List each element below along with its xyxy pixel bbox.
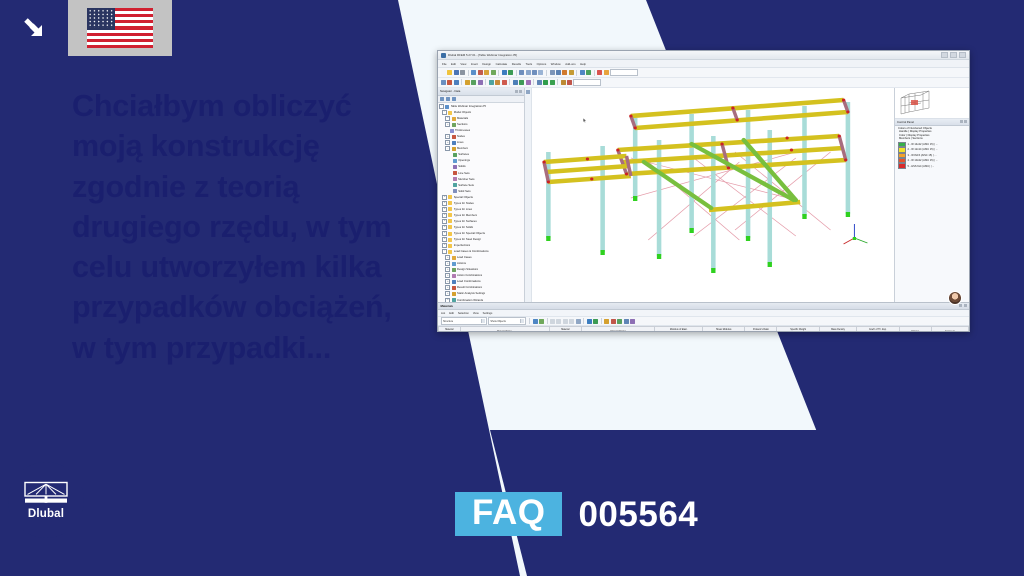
header-line: Material: [550, 329, 581, 332]
solid-icon[interactable]: [478, 80, 483, 85]
tree-item-icon: [453, 177, 457, 181]
tree-item-icon: [453, 171, 457, 175]
toolbar-separator: [498, 70, 499, 76]
tree-item-label: Static Analysis Settings: [457, 292, 485, 295]
logo-wordmark: Dlubal: [28, 508, 64, 520]
filter-icon[interactable]: [533, 319, 538, 324]
table-column-header[interactable]: Shear ModulusG [ksi]: [702, 327, 744, 333]
tree-item-label: Lines: [457, 141, 464, 144]
tree-item-label: Line Sets: [458, 172, 469, 175]
maximize-button[interactable]: [950, 52, 957, 58]
table-column-header[interactable]: Modulus of Elast.E [ksi]: [655, 327, 703, 333]
window-controls[interactable]: [941, 52, 966, 58]
surface-icon[interactable]: [471, 80, 476, 85]
legend-label: 5 - HSS 6x4 (AISC) | ...: [908, 165, 935, 168]
table-column-header[interactable]: Coeff. of Th. Exp.α [1/°F]: [857, 327, 899, 333]
tree-item-label: Surface Sets: [458, 184, 474, 187]
header-line: Mass Density: [820, 329, 856, 332]
navigator-title: Navigator - Data: [440, 89, 460, 93]
collapse-icon[interactable]: -: [442, 110, 447, 115]
menu-item-edit[interactable]: Edit: [451, 62, 456, 66]
close-icon[interactable]: [519, 90, 522, 93]
structure-select-value: Structure: [443, 320, 453, 323]
tree-item-icon: [453, 183, 457, 187]
settings-icon[interactable]: [630, 319, 635, 324]
render-solid-icon[interactable]: [519, 70, 524, 75]
tree-item-label: Imperfections: [454, 244, 471, 247]
tree-item-icon: [452, 280, 456, 284]
table-menu-edit[interactable]: Edit: [449, 312, 454, 315]
toolbar-separator: [594, 70, 595, 76]
navigator-tabs[interactable]: [438, 96, 524, 103]
header-line: Comment: [932, 331, 968, 332]
legend-label: 1 - W 14x22 (AISC 15) | ...: [908, 143, 938, 146]
table-menu-list[interactable]: List: [441, 312, 445, 315]
menu-item-results[interactable]: Results: [512, 62, 521, 66]
redo-icon[interactable]: [593, 319, 598, 324]
member-icon[interactable]: [465, 80, 470, 85]
tree-item-label: Table Webinar Integration.rf5: [451, 105, 486, 108]
structure-select[interactable]: Structure: [441, 317, 487, 324]
undo-icon[interactable]: [587, 319, 592, 324]
table-column-header[interactable]: Material Name: [460, 327, 549, 333]
tree-item-icon: [452, 286, 456, 290]
export-icon[interactable]: [576, 319, 581, 324]
table-panel-header: Materials: [438, 303, 969, 311]
column-view-icon[interactable]: [556, 319, 561, 324]
menu-item-help[interactable]: Help: [580, 62, 586, 66]
results-icon[interactable]: [604, 70, 609, 75]
delete-row-icon[interactable]: [611, 319, 616, 324]
expand-icon[interactable]: +: [445, 267, 450, 272]
tree-item-icon: [453, 165, 457, 169]
model-thumbnail: [895, 88, 969, 119]
tree-item-icon: [445, 105, 449, 109]
window-titlebar: Dlubal RFEM 5.27.01 - [Table Webinar Int…: [438, 51, 969, 60]
grid-icon[interactable]: [550, 70, 555, 75]
tree-item-label: Types for Solids: [454, 226, 474, 229]
tree-item-icon: [452, 135, 456, 139]
material-icon[interactable]: [567, 80, 572, 85]
edit-row-icon[interactable]: [604, 319, 609, 324]
new-file-icon[interactable]: [441, 70, 446, 75]
tree-item-icon: [452, 117, 456, 121]
legend-label: 3 - W 8x15 (AISC 15) | ...: [908, 154, 937, 157]
tree-spacer: [449, 172, 452, 175]
tree-spacer: [445, 129, 448, 132]
dlubal-logo: Dlubal: [8, 462, 84, 538]
header-line: Shear Modulus: [703, 329, 744, 332]
close-button[interactable]: [959, 52, 966, 58]
table-menu-view[interactable]: View: [473, 312, 479, 315]
table-column-header[interactable]: Specific Weightγ [kip/ft³]: [777, 327, 819, 333]
tree-item-icon: [452, 147, 456, 151]
chevron-down-icon[interactable]: [481, 319, 486, 323]
mesh-icon[interactable]: [537, 80, 542, 85]
nodal-load-icon[interactable]: [513, 80, 518, 85]
expand-icon[interactable]: +: [442, 237, 447, 242]
print-table-icon[interactable]: [624, 319, 629, 324]
tree-spacer: [449, 178, 452, 181]
dimension-icon[interactable]: [569, 70, 574, 75]
tree-spacer: [449, 165, 452, 168]
header-line: Material: [439, 329, 460, 332]
legend-row[interactable]: 5 - HSS 6x4 (AISC) | ...: [898, 163, 969, 168]
language-bar: [0, 0, 172, 56]
tree-item-label: Sections: [457, 123, 468, 126]
close-icon[interactable]: [964, 304, 967, 307]
check-icon[interactable]: [550, 80, 555, 85]
tree-item-icon: [452, 268, 456, 272]
expand-icon[interactable]: +: [442, 207, 447, 212]
tree-item-icon: [452, 262, 456, 266]
toolbar-separator: [485, 79, 486, 85]
chevron-down-icon[interactable]: [520, 319, 525, 323]
redo-icon[interactable]: [508, 70, 513, 75]
render-wire-icon[interactable]: [526, 70, 531, 75]
tree-item-label: Solid Sets: [458, 190, 470, 193]
tree-item-label: Openings: [458, 159, 470, 162]
header-line: Material Model: [582, 331, 655, 332]
view-tool-icon[interactable]: [526, 90, 530, 94]
headline-text: Chciałbym obliczyć moją konstrukcję zgod…: [72, 86, 422, 368]
cut-icon[interactable]: [478, 70, 483, 75]
tree-item-icon: [452, 298, 456, 301]
menu-item-design[interactable]: Design: [482, 62, 491, 66]
model-viewport[interactable]: [525, 88, 894, 302]
table-toolbar[interactable]: Structure Show Objects: [438, 317, 969, 326]
tree-item-icon: [453, 189, 457, 193]
expand-icon[interactable]: +: [445, 279, 450, 284]
control-panel-header: Control Panel: [895, 119, 969, 126]
data-tab-icon[interactable]: [440, 97, 444, 101]
table-panel-title: Materials: [441, 304, 454, 308]
toolbar-separator: [557, 79, 558, 85]
tree-item-icon: [448, 207, 452, 211]
expand-icon[interactable]: +: [445, 285, 450, 290]
materials-table[interactable]: MaterialNo.Material NameMaterialTypeMate…: [438, 326, 969, 332]
pin-icon[interactable]: [515, 90, 518, 93]
navigator-panel-buttons[interactable]: [515, 90, 523, 93]
expand-icon[interactable]: +: [445, 140, 450, 145]
node-icon[interactable]: [447, 80, 452, 85]
table-panel-buttons[interactable]: [959, 304, 967, 307]
toolbar-separator: [516, 70, 517, 76]
tree-item-label: Members: [457, 147, 468, 150]
tree-item-icon: [452, 123, 456, 127]
presenter-avatar: [948, 291, 962, 305]
tree-item-label: Result Combinations: [457, 286, 482, 289]
header-line: Coeff. of Th. Exp.: [857, 329, 898, 332]
show-objects-select[interactable]: Show Objects: [488, 317, 526, 324]
tree-item-label: Load Cases: [457, 256, 472, 259]
expand-icon[interactable]: +: [442, 201, 447, 206]
merge-cells-icon[interactable]: [569, 319, 574, 324]
us-flag-icon: [87, 8, 153, 48]
expand-icon[interactable]: +: [442, 225, 447, 230]
render-shaded-icon[interactable]: [532, 70, 537, 75]
tree-item-label: Load Combinations: [457, 280, 481, 283]
expand-icon[interactable]: +: [445, 122, 450, 127]
table-header-row: MaterialNo.Material NameMaterialTypeMate…: [439, 327, 969, 333]
tree-item-label: Actions: [457, 262, 466, 265]
navigator-tree[interactable]: -Table Webinar Integration.rf5-Model Obj…: [438, 103, 524, 302]
toolbar-separator: [468, 70, 469, 76]
render-transparent-icon[interactable]: [538, 70, 543, 75]
tree-item-label: Types for Surfaces: [454, 220, 477, 223]
tree-item-label: Model Objects: [454, 111, 472, 114]
tree-item-label: Combination Wizards: [457, 299, 483, 302]
collapse-icon[interactable]: -: [445, 146, 450, 151]
navigator-item[interactable]: +Combination Wizards: [439, 297, 524, 302]
arrow-down-right-icon: [19, 13, 49, 43]
tree-item-label: Materials: [457, 117, 468, 120]
application-body: Navigator - Data -Table Webinar Integrat…: [438, 88, 969, 302]
navigator-panel[interactable]: Navigator - Data -Table Webinar Integrat…: [438, 88, 525, 302]
toolbar-combo[interactable]: [610, 69, 638, 76]
tree-spacer: [449, 159, 452, 162]
tree-item-label: Action Combinations: [457, 274, 482, 277]
toolbar-separator: [509, 79, 510, 85]
menu-item-file[interactable]: File: [442, 62, 447, 66]
faq-badge: FAQ: [455, 492, 562, 536]
tree-item-icon: [448, 232, 452, 236]
tree-item-label: Types for Lines: [454, 208, 473, 211]
menu-item-options[interactable]: Options: [537, 62, 547, 66]
surface-load-icon[interactable]: [526, 80, 531, 85]
header-line: Options: [900, 331, 931, 332]
materials-table-wrapper[interactable]: MaterialNo.Material NameMaterialTypeMate…: [438, 326, 969, 332]
expand-icon[interactable]: +: [445, 298, 450, 302]
section-icon[interactable]: [561, 80, 566, 85]
tree-item-label: Surfaces: [458, 153, 469, 156]
header-line: Specific Weight: [777, 329, 818, 332]
pin-icon[interactable]: [959, 304, 962, 307]
expand-icon[interactable]: +: [442, 243, 447, 248]
menu-item-add-ons[interactable]: Add-ons: [565, 62, 575, 66]
arrow-down-right-button[interactable]: [0, 0, 68, 56]
expand-icon[interactable]: +: [445, 261, 450, 266]
tree-item-label: Types for Steel Design: [454, 238, 482, 241]
table-menu-selection[interactable]: Selection: [458, 312, 469, 315]
tree-item-label: Design Situations: [457, 268, 478, 271]
control-panel-title: Control Panel: [897, 120, 914, 124]
faq-row: FAQ 005564: [455, 492, 698, 536]
tree-item-icon: [448, 244, 452, 248]
copy-icon[interactable]: [484, 70, 489, 75]
hinge-icon[interactable]: [495, 80, 500, 85]
tree-item-icon: [448, 225, 452, 229]
slide-canvas: Chciałbym obliczyć moją konstrukcję zgod…: [0, 0, 1024, 576]
tree-item-label: Special Objects: [454, 196, 473, 199]
menu-item-window[interactable]: Window: [551, 62, 561, 66]
tree-item-icon: [448, 213, 452, 217]
select-icon[interactable]: [441, 80, 446, 85]
tree-item-icon: [448, 238, 452, 242]
tree-item-icon: [452, 141, 456, 145]
zoom-all-icon[interactable]: [586, 70, 591, 75]
line-icon[interactable]: [454, 80, 459, 85]
print-preview-icon[interactable]: [471, 70, 476, 75]
toolbar-row-1[interactable]: [438, 68, 969, 78]
close-icon[interactable]: [964, 120, 967, 123]
tree-item-label: Types for Members: [454, 214, 478, 217]
calculate-icon[interactable]: [597, 70, 602, 75]
row-view-icon[interactable]: [563, 319, 568, 324]
load-icon[interactable]: [502, 80, 507, 85]
pin-icon[interactable]: [960, 120, 963, 123]
expand-icon[interactable]: +: [442, 213, 447, 218]
control-panel[interactable]: Control Panel Colors of Numbered Objects…: [894, 88, 969, 302]
tree-spacer: [449, 153, 452, 156]
legend-color-swatch: [898, 163, 906, 168]
expand-icon[interactable]: +: [442, 219, 447, 224]
menu-item-calculate[interactable]: Calculate: [496, 62, 508, 66]
line-load-icon[interactable]: [519, 80, 524, 85]
table-menu-settings[interactable]: Settings: [483, 312, 493, 315]
expand-icon[interactable]: +: [442, 231, 447, 236]
menu-item-view[interactable]: View: [460, 62, 466, 66]
tree-item-icon: [453, 159, 457, 163]
undo-icon[interactable]: [502, 70, 507, 75]
views-tab-icon[interactable]: [452, 97, 456, 101]
tree-spacer: [449, 190, 452, 193]
expand-icon[interactable]: +: [445, 116, 450, 121]
tree-item-label: Thicknesses: [455, 129, 470, 132]
header-line: Material Name: [461, 331, 549, 332]
header-line: Modulus of Elast.: [655, 329, 702, 332]
tree-item-label: Load Cases & Combinations: [454, 250, 489, 253]
deformation-icon[interactable]: [543, 80, 548, 85]
zoom-window-icon[interactable]: [580, 70, 585, 75]
control-panel-section-label: Members | Sections: [895, 137, 969, 141]
minimize-button[interactable]: [941, 52, 948, 58]
open-file-icon[interactable]: [447, 70, 452, 75]
display-tab-icon[interactable]: [446, 97, 450, 101]
navigator-header: Navigator - Data: [438, 88, 524, 96]
tree-item-label: Member Sets: [458, 178, 474, 181]
toolbar-row-2[interactable]: [438, 78, 969, 88]
tree-item-icon: [452, 274, 456, 278]
support-icon[interactable]: [489, 80, 494, 85]
rfem-application-window[interactable]: Dlubal RFEM 5.27.01 - [Table Webinar Int…: [437, 50, 970, 332]
grid-view-icon[interactable]: [550, 319, 555, 324]
save-icon[interactable]: [454, 70, 459, 75]
collapse-icon[interactable]: -: [439, 104, 444, 109]
sort-icon[interactable]: [539, 319, 544, 324]
table-column-header[interactable]: Comment: [931, 327, 968, 333]
table-column-header[interactable]: Material Model: [581, 327, 655, 333]
insert-row-icon[interactable]: [617, 319, 622, 324]
toolbar-separator: [461, 79, 462, 85]
table-menu-bar[interactable]: ListEditSelectionViewSettings: [438, 310, 969, 317]
menu-item-tools[interactable]: Tools: [526, 62, 533, 66]
legend-label: 2 - W 12x14 (AISC 15) | ...: [908, 148, 938, 151]
menu-bar[interactable]: FileEditViewInsertDesignCalculateResults…: [438, 60, 969, 68]
tree-item-label: Nodes: [457, 135, 465, 138]
tree-item-icon: [450, 129, 454, 133]
tree-item-label: Types for Special Objects: [454, 232, 485, 235]
toolbar-separator: [576, 70, 577, 76]
tree-item-icon: [448, 195, 452, 199]
show-objects-select-value: Show Objects: [490, 320, 505, 323]
table-column-header[interactable]: Options: [899, 327, 931, 333]
tree-item-icon: [452, 256, 456, 260]
toolbar-combo[interactable]: [573, 79, 601, 86]
table-column-header[interactable]: MaterialType: [549, 327, 581, 333]
expand-icon[interactable]: +: [445, 134, 450, 139]
control-panel-buttons[interactable]: [960, 120, 968, 123]
table-column-header[interactable]: Mass Densityρ [lb/ft³]: [819, 327, 856, 333]
color-legend[interactable]: 1 - W 14x22 (AISC 15) | ...2 - W 12x14 (…: [898, 142, 969, 169]
window-title: Dlubal RFEM 5.27.01 - [Table Webinar Int…: [448, 53, 517, 57]
snap-icon[interactable]: [556, 70, 561, 75]
legend-label: 4 - W 10x22 (AISC 15) | ...: [908, 159, 938, 162]
tree-item-icon: [448, 219, 452, 223]
tree-item-icon: [448, 111, 452, 115]
expand-icon[interactable]: +: [445, 255, 450, 260]
measure-icon[interactable]: [562, 70, 567, 75]
tree-spacer: [449, 184, 452, 187]
truss-frame-icon: [23, 481, 69, 507]
header-line: Poisson's Ratio: [745, 329, 776, 332]
mouse-cursor-icon: [583, 118, 587, 123]
expand-icon[interactable]: +: [442, 195, 447, 200]
menu-item-insert[interactable]: Insert: [471, 62, 478, 66]
tree-item-icon: [448, 201, 452, 205]
collapse-icon[interactable]: -: [442, 249, 447, 254]
tree-item-icon: [452, 292, 456, 296]
table-panel[interactable]: Materials ListEditSelectionViewSettings …: [438, 302, 969, 333]
tree-item-label: Types for Nodes: [454, 202, 474, 205]
tree-item-label: Solids: [458, 165, 466, 168]
faq-number: 005564: [578, 497, 698, 532]
print-icon[interactable]: [460, 70, 465, 75]
table-column-header[interactable]: MaterialNo.: [439, 327, 461, 333]
tree-item-icon: [453, 153, 457, 157]
expand-icon[interactable]: +: [445, 273, 450, 278]
table-column-header[interactable]: Poisson's Ratioν [-]: [745, 327, 777, 333]
tree-item-icon: [448, 250, 452, 254]
toolbar-separator: [546, 70, 547, 76]
paste-icon[interactable]: [491, 70, 496, 75]
expand-icon[interactable]: +: [445, 291, 450, 296]
us-flag-button[interactable]: [68, 0, 172, 56]
toolbar-separator: [533, 79, 534, 85]
app-icon: [441, 53, 446, 58]
